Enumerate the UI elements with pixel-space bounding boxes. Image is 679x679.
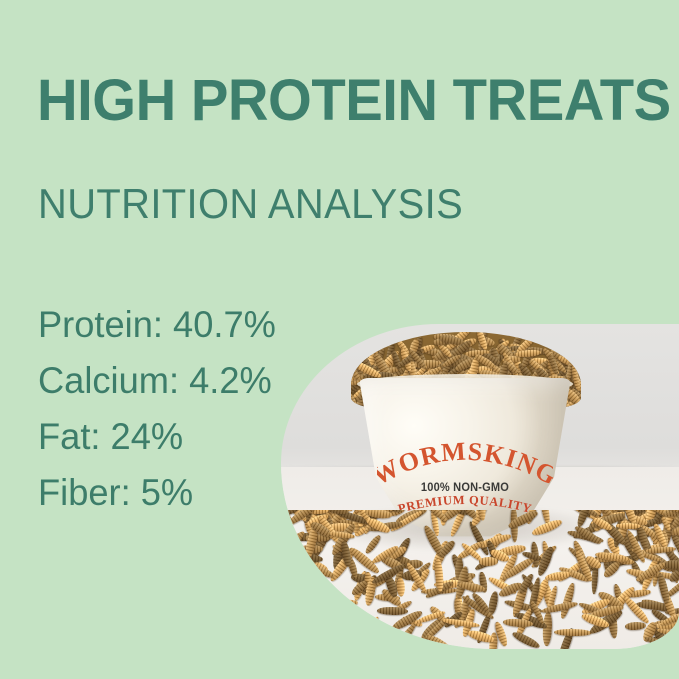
brand-claim-text: 100% NON-GMO bbox=[381, 482, 550, 494]
larva bbox=[558, 582, 576, 619]
larva bbox=[396, 577, 405, 597]
nutrition-fat: Fat: 24% bbox=[38, 416, 183, 457]
larva bbox=[554, 629, 592, 637]
list-item: Protein: 40.7% bbox=[38, 297, 361, 353]
larva bbox=[510, 630, 541, 649]
list-item: Fat: 24% bbox=[38, 409, 361, 465]
nutrition-calcium: Calcium: 4.2% bbox=[38, 360, 272, 401]
larva bbox=[377, 606, 409, 615]
larva bbox=[363, 534, 382, 555]
svg-text:WORMSKING: WORMSKING bbox=[377, 437, 553, 488]
larvae-scatter bbox=[281, 510, 679, 649]
larva bbox=[542, 611, 553, 647]
nutrition-fiber: Fiber: 5% bbox=[38, 472, 193, 513]
larva bbox=[425, 633, 456, 649]
brand-name-text: WORMSKING bbox=[377, 437, 553, 488]
nutrition-list: Protein: 40.7% Calcium: 4.2% Fat: 24% Fi… bbox=[38, 297, 368, 521]
page-title: HIGH PROTEIN TREATS bbox=[37, 72, 671, 130]
list-item: Fiber: 5% bbox=[38, 465, 361, 521]
larva bbox=[616, 522, 641, 529]
list-item: Calcium: 4.2% bbox=[38, 353, 361, 409]
infographic-canvas: HIGH PROTEIN TREATS NUTRITION ANALYSIS P… bbox=[0, 0, 679, 679]
brand-name-arc: WORMSKING bbox=[377, 436, 553, 488]
larva bbox=[478, 557, 497, 566]
bowl-brand-logo: WORMSKING 100% NON-GMO PREMIUM QUALITY bbox=[377, 436, 553, 514]
larva bbox=[515, 349, 541, 358]
page-subtitle: NUTRITION ANALYSIS bbox=[38, 183, 463, 225]
nutrition-protein: Protein: 40.7% bbox=[38, 304, 276, 345]
